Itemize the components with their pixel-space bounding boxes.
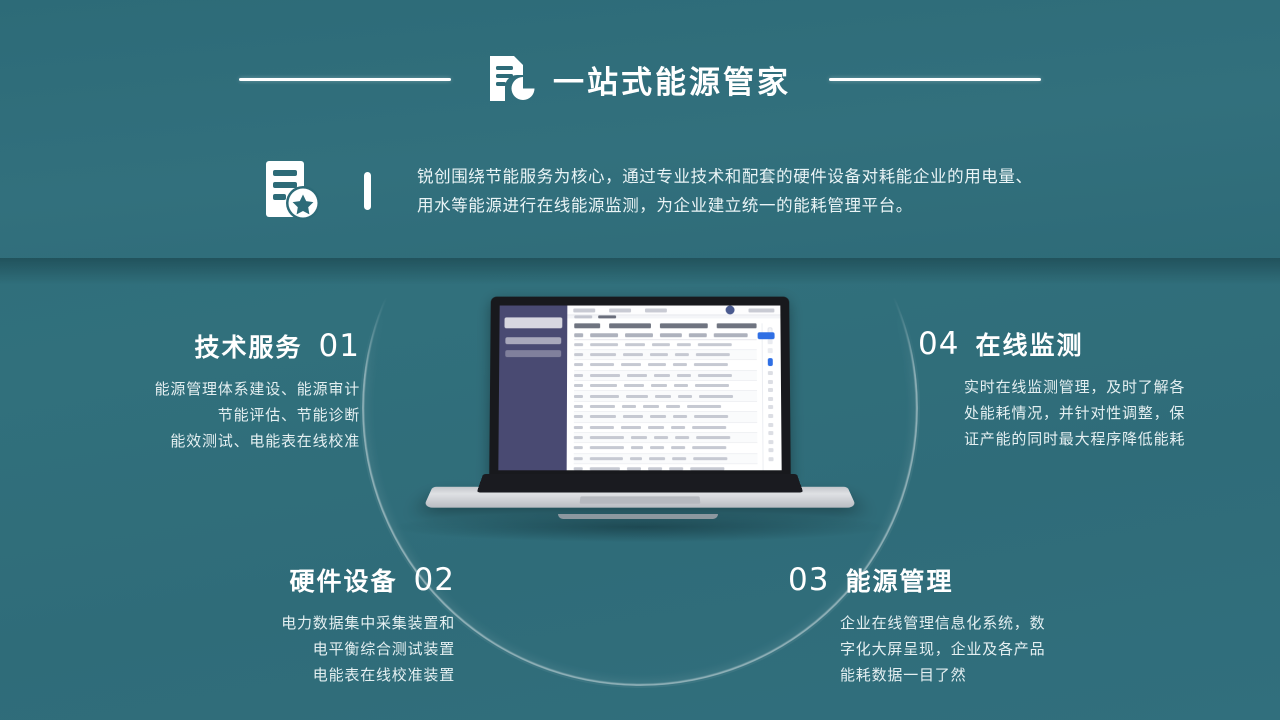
table-row [574,350,757,360]
laptop-foot [558,514,718,519]
dashboard-main [566,306,781,471]
table-header-cell [660,333,682,336]
table-row [573,433,757,443]
dashboard-avatar [726,306,735,315]
filter-chip [609,323,651,328]
table-row [574,423,757,433]
table-row [574,340,757,350]
title-row: 一站式能源管家 [0,52,1280,106]
feature-line: 电能表在线校准装置 [0,662,455,688]
feature-line: 能源管理体系建设、能源审计 [0,376,360,402]
feature-number: 03 [788,562,829,598]
intro-line-1: 锐创围绕节能服务为核心，通过专业技术和配套的硬件设备对耗能企业的用电量、 [417,162,1033,191]
dashboard-list-item [768,431,773,435]
intro-text: 锐创围绕节能服务为核心，通过专业技术和配套的硬件设备对耗能企业的用电量、 用水等… [417,162,1033,220]
dashboard-primary-button [767,358,772,366]
decorative-rule-left [239,78,451,81]
feature-line: 能耗数据一目了然 [840,662,1208,688]
feature-number: 02 [414,562,455,598]
feature-title: 硬件设备 [290,562,398,598]
dashboard-sidebar [498,306,567,471]
dashboard-side-panel [761,323,778,470]
table-row [574,391,757,401]
table-row [574,412,757,422]
feature-heading: 技术服务 01 [0,328,360,364]
dashboard-list-item [768,448,773,452]
table-header-cell [689,333,707,336]
feature-heading: 硬件设备 02 [0,562,455,598]
dashboard-list-item [768,405,773,409]
feature-block-04: 04 在线监测 实时在线监测管理，及时了解各 处能耗情况，并针对性调整，保 证产… [918,326,1280,452]
dashboard-username [748,308,774,312]
feature-body: 电力数据集中采集装置和 电平衡综合测试装置 电能表在线校准装置 [0,610,455,688]
laptop-keyboard [477,474,803,492]
dashboard-list-item [768,388,773,392]
dashboard-list-item [768,457,773,461]
dashboard-topbar [567,306,780,316]
feature-block-03: 03 能源管理 企业在线管理信息化系统，数 字化大屏呈现，企业及各产品 能耗数据… [788,562,1208,688]
laptop-lid [489,297,791,483]
feature-heading: 03 能源管理 [788,562,1208,598]
feature-body: 企业在线管理信息化系统，数 字化大屏呈现，企业及各产品 能耗数据一目了然 [840,610,1208,688]
slide-root: 一站式能源管家 锐创围绕节能服务为核心，通过专业技术和配套的硬件设备对耗能企业的… [0,0,1280,720]
feature-line: 节能评估、节能诊断 [0,402,360,428]
dashboard-nav-item [505,337,561,344]
table-header-cell [625,333,653,336]
document-chart-icon [487,53,535,105]
filter-chip [574,323,600,328]
table-header-cell [574,333,583,336]
feature-line: 电平衡综合测试装置 [0,636,455,662]
feature-title: 技术服务 [195,328,303,364]
table-row [574,381,757,391]
dashboard-list-item [768,440,773,444]
filter-chip [660,323,708,328]
dashboard-logo [504,317,562,328]
feature-line: 能效测试、电能表在线校准 [0,428,360,454]
feature-title: 在线监测 [975,326,1083,362]
dashboard-select [767,339,772,344]
feature-number: 01 [319,328,360,364]
feature-line: 证产能的同时最大程序降低能耗 [964,426,1280,452]
dashboard-search-button [758,332,775,339]
table-header-cell [590,333,618,336]
feature-line: 处能耗情况，并针对性调整，保 [964,400,1280,426]
dashboard-list-item [768,414,773,418]
table-row [573,464,757,470]
dashboard-filter-row [574,323,756,328]
table-row [574,402,757,412]
dashboard-list-item [768,397,773,401]
feature-number: 04 [918,326,959,362]
dashboard-select [767,348,772,353]
laptop-screen [498,306,781,471]
laptop-trackpad [580,496,701,503]
feature-line: 实时在线监测管理，及时了解各 [964,374,1280,400]
table-row [574,360,757,370]
dashboard-list-item [768,371,773,375]
table-row [573,454,757,464]
dashboard-list-item [768,423,773,427]
feature-title: 能源管理 [845,562,953,598]
feature-line: 字化大屏呈现，企业及各产品 [840,636,1208,662]
feature-block-01: 技术服务 01 能源管理体系建设、能源审计 节能评估、节能诊断 能效测试、电能表… [0,328,390,454]
title-wrap: 一站式能源管家 [487,53,791,105]
dashboard-nav-item [505,350,561,357]
feature-line: 企业在线管理信息化系统，数 [840,610,1208,636]
filter-chip [716,323,756,328]
feature-block-02: 硬件设备 02 电力数据集中采集装置和 电平衡综合测试装置 电能表在线校准装置 [0,562,500,688]
intro-divider [364,172,371,210]
dashboard-menu-item [645,308,667,312]
intro-line-2: 用水等能源进行在线能源监测，为企业建立统一的能耗管理平台。 [417,191,1033,220]
laptop-mockup [428,296,852,528]
feature-line: 电力数据集中采集装置和 [0,610,455,636]
dashboard-table [573,323,757,470]
feature-body: 能源管理体系建设、能源审计 节能评估、节能诊断 能效测试、电能表在线校准 [0,376,360,454]
table-row [573,443,757,453]
dashboard-body [566,318,781,470]
page-title: 一站式能源管家 [553,57,791,102]
table-row [574,371,757,381]
table-header-cell [713,333,747,336]
feature-heading: 04 在线监测 [918,326,1280,362]
dashboard-menu-item [573,308,595,312]
document-star-icon [262,158,324,224]
dashboard-menu-item [609,308,631,312]
dashboard-list-item [768,380,773,384]
decorative-rule-right [829,78,1041,81]
feature-body: 实时在线监测管理，及时了解各 处能耗情况，并针对性调整，保 证产能的同时最大程序… [964,374,1280,452]
intro-block: 锐创围绕节能服务为核心，通过专业技术和配套的硬件设备对耗能企业的用电量、 用水等… [262,158,1033,224]
header-band-shadow [0,258,1280,284]
